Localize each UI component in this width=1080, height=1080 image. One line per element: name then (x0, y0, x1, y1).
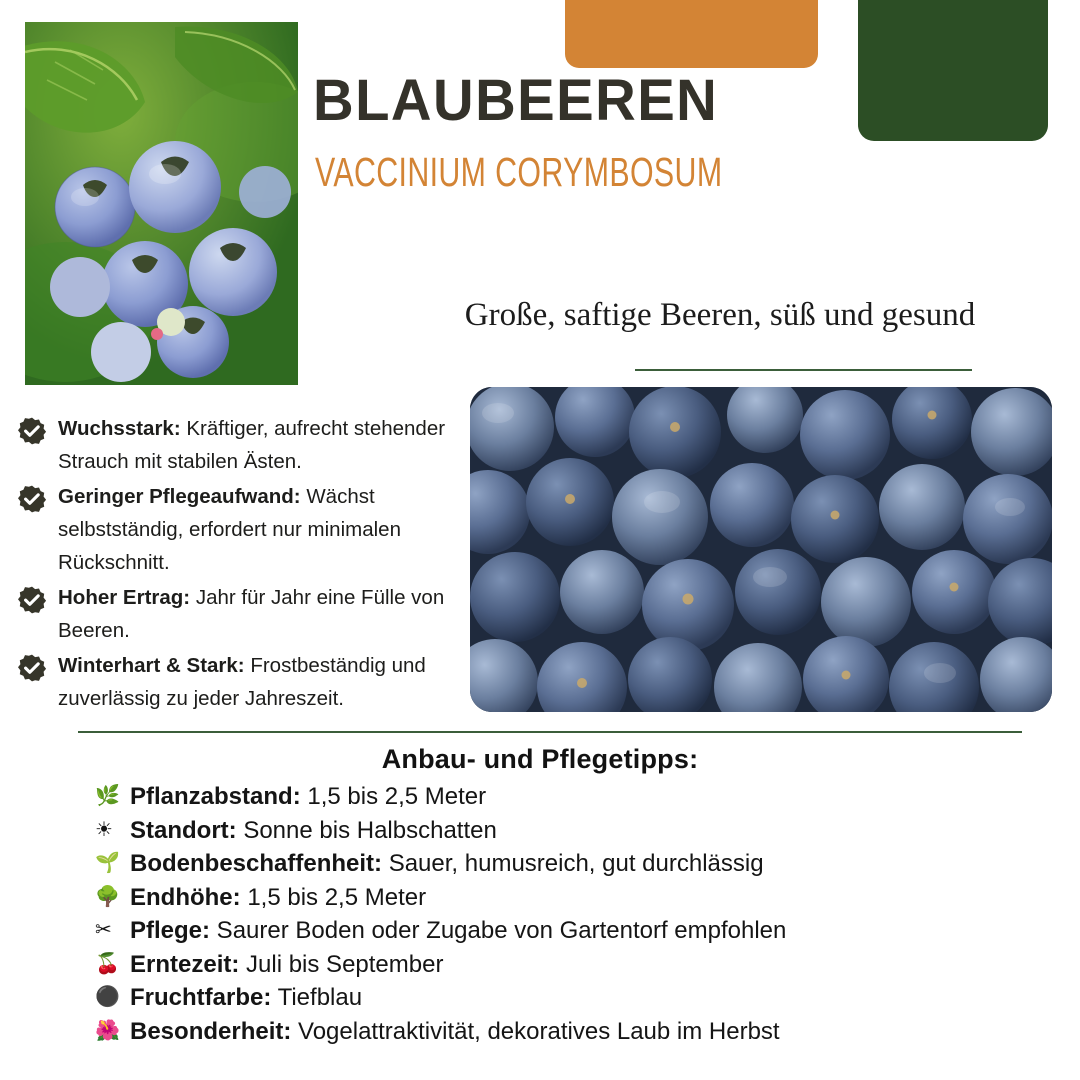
tip-row: ☀ Standort: Sonne bis Halbschatten (95, 814, 1035, 848)
tip-label: Endhöhe: (130, 884, 241, 911)
tip-value: Tiefblau (271, 984, 362, 1011)
tip-row: 🌿 Pflanzabstand: 1,5 bis 2,5 Meter (95, 780, 1035, 814)
check-badge-icon (18, 485, 46, 513)
tip-label: Besonderheit: (130, 1018, 291, 1045)
sun-icon: ☀ (95, 814, 123, 848)
tip-label: Standort: (130, 817, 237, 844)
list-item-label: Hoher Ertrag: (58, 586, 190, 609)
tip-value: Saurer Boden oder Zugabe von Gartentorf … (210, 917, 786, 944)
blueberry-harvest-photo (470, 387, 1052, 712)
list-item: Geringer Pflegeaufwand: Wächst selbststä… (18, 480, 486, 579)
tip-row: 🍒 Erntezeit: Juli bis September (95, 948, 1035, 982)
tip-label: Pflege: (130, 917, 210, 944)
tip-label: Fruchtfarbe: (130, 984, 271, 1011)
list-item: Wuchsstark: Kräftiger, aufrecht stehende… (18, 412, 486, 478)
check-badge-icon (18, 654, 46, 682)
hibiscus-icon: 🌺 (95, 1015, 123, 1049)
tip-value: Vogelattraktivität, dekoratives Laub im … (291, 1018, 779, 1045)
tip-row: ✂ Pflege: Saurer Boden oder Zugabe von G… (95, 914, 1035, 948)
black-circle-icon: ⚫ (95, 981, 123, 1015)
tips-list: 🌿 Pflanzabstand: 1,5 bis 2,5 Meter ☀ Sta… (95, 780, 1035, 1048)
list-item: Winterhart & Stark: Frostbeständig und z… (18, 649, 486, 715)
tip-value: Juli bis September (239, 951, 443, 978)
list-item-label: Winterhart & Stark: (58, 654, 245, 677)
tip-value: 1,5 bis 2,5 Meter (301, 783, 486, 810)
tagline-divider (635, 369, 972, 371)
scissors-icon: ✂ (95, 914, 123, 948)
list-item: Hoher Ertrag: Jahr für Jahr eine Fülle v… (18, 581, 486, 647)
tip-value: 1,5 bis 2,5 Meter (241, 884, 426, 911)
tip-label: Pflanzabstand: (130, 783, 301, 810)
decorative-orange-block (565, 0, 818, 68)
tip-row: 🌺 Besonderheit: Vogelattraktivität, deko… (95, 1015, 1035, 1049)
tip-value: Sonne bis Halbschatten (237, 817, 497, 844)
page-title: BLAUBEEREN (313, 72, 718, 130)
benefits-list: Wuchsstark: Kräftiger, aufrecht stehende… (18, 412, 486, 717)
tip-row: ⚫ Fruchtfarbe: Tiefblau (95, 981, 1035, 1015)
seedling-icon: 🌱 (95, 847, 123, 881)
list-item-label: Geringer Pflegeaufwand: (58, 485, 301, 508)
tip-row: 🌳 Endhöhe: 1,5 bis 2,5 Meter (95, 881, 1035, 915)
herb-icon: 🌿 (95, 780, 123, 814)
tree-icon: 🌳 (95, 881, 123, 915)
tip-row: 🌱 Bodenbeschaffenheit: Sauer, humusreich… (95, 847, 1035, 881)
blueberry-bush-photo (25, 22, 298, 385)
tips-heading: Anbau- und Pflegetipps: (0, 744, 1080, 775)
tagline: Große, saftige Beeren, süß und gesund (420, 296, 1020, 336)
tip-label: Bodenbeschaffenheit: (130, 850, 382, 877)
tip-label: Erntezeit: (130, 951, 239, 978)
decorative-green-block (858, 0, 1048, 141)
section-divider (78, 731, 1022, 733)
tip-value: Sauer, humusreich, gut durchlässig (382, 850, 764, 877)
cherries-icon: 🍒 (95, 948, 123, 982)
page-subtitle: VACCINIUM CORYMBOSUM (315, 152, 722, 193)
check-badge-icon (18, 586, 46, 614)
check-badge-icon (18, 417, 46, 445)
list-item-label: Wuchsstark: (58, 417, 181, 440)
